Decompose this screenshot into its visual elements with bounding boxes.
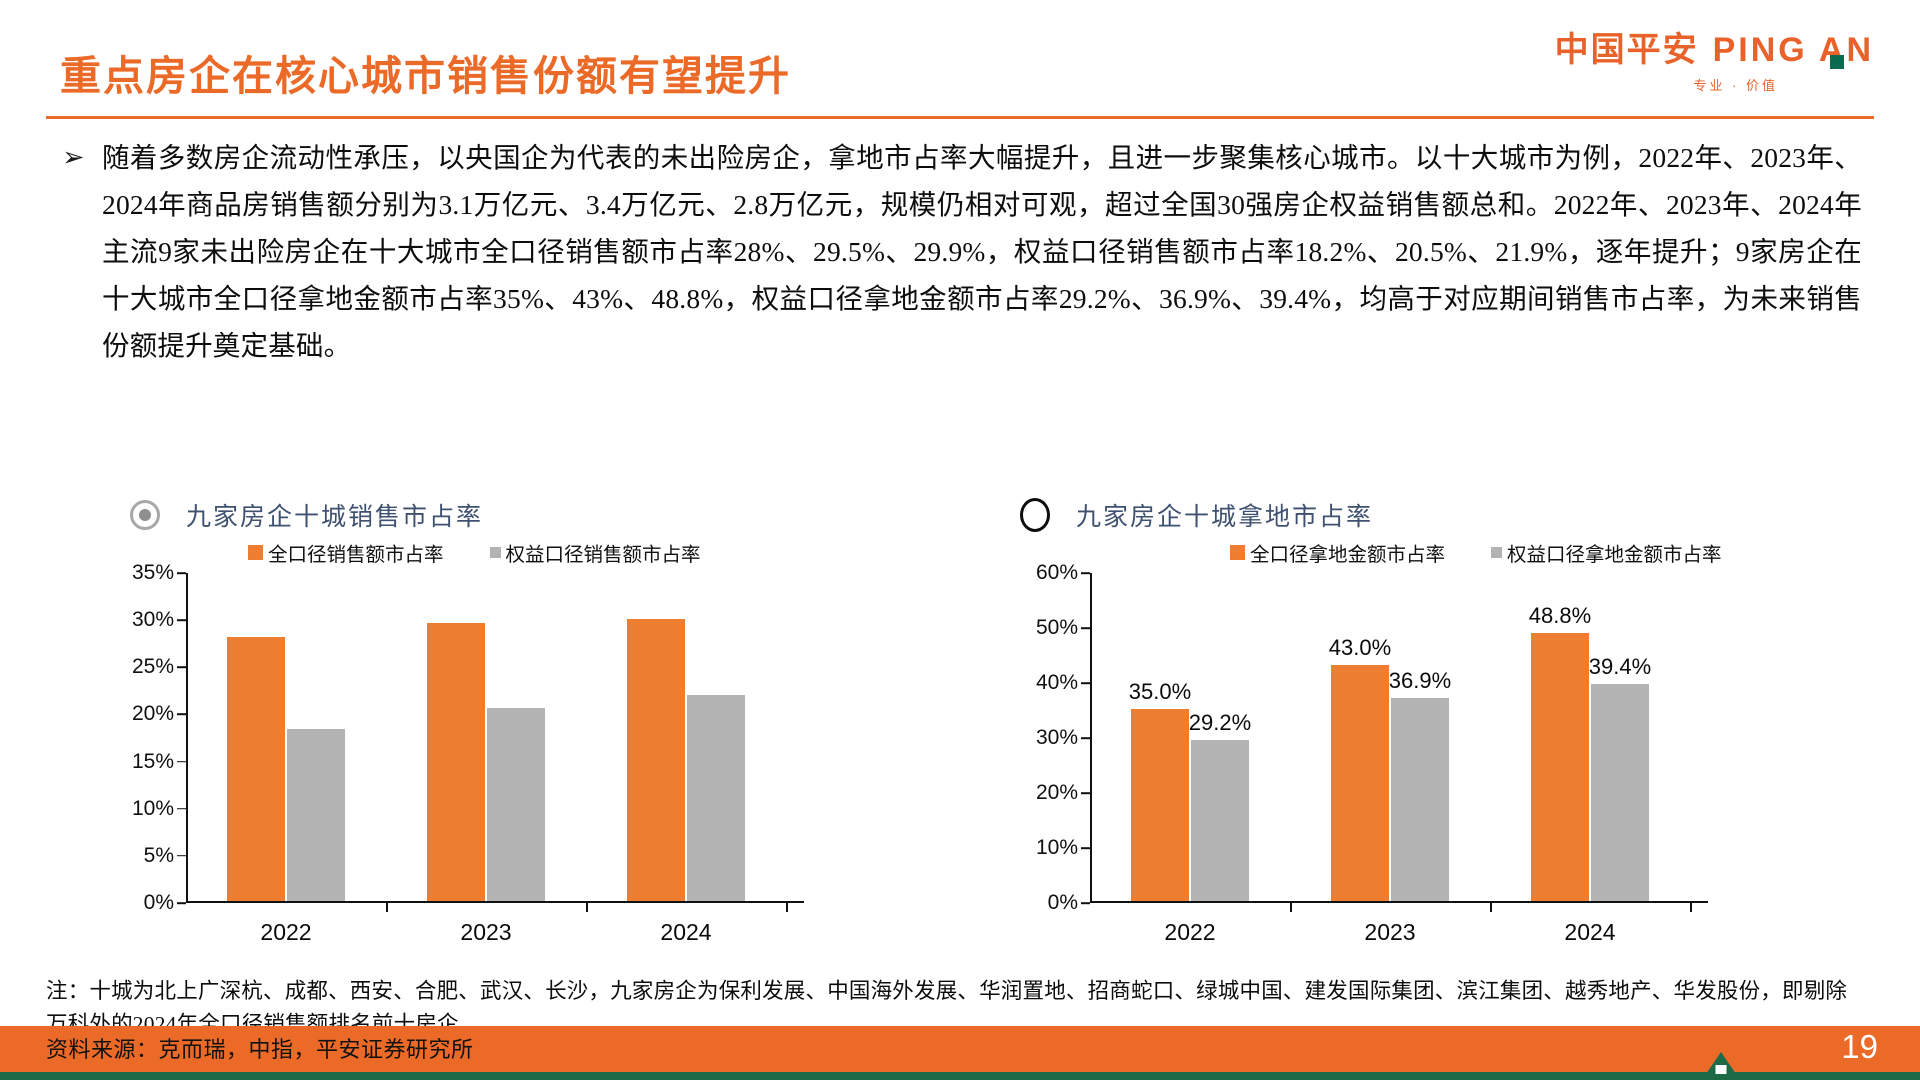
y-axis-tick-mark [177, 761, 186, 763]
chart-header-sales: 九家房企十城销售市占率 [130, 492, 890, 538]
logo-wordmark: 中国平安 PING AN [1524, 22, 1874, 71]
y-axis-tick-mark [1081, 792, 1090, 794]
x-axis-tick-label: 2022 [1164, 919, 1215, 946]
x-axis-tick-mark [586, 903, 588, 912]
bar-equity: 36.9% [1391, 698, 1449, 901]
legend-label-land-equity: 权益口径拿地金额市占率 [1507, 538, 1722, 567]
y-axis-tick-mark [177, 902, 186, 904]
chart-legend-sales: 全口径销售额市占率 权益口径销售额市占率 [248, 538, 890, 567]
y-axis-tick-mark [1081, 572, 1090, 574]
legend-item-sales-equity: 权益口径销售额市占率 [490, 538, 701, 567]
x-axis-tick-label: 2023 [460, 919, 511, 946]
bar-value-label: 43.0% [1329, 635, 1391, 661]
y-axis-tick-mark [177, 572, 186, 574]
y-axis-tick-mark [1081, 902, 1090, 904]
x-axis-tick-mark [1490, 903, 1492, 912]
y-axis-tick-mark [1081, 737, 1090, 739]
bar-value-label: 36.9% [1389, 668, 1451, 694]
bar-value-label: 35.0% [1129, 679, 1191, 705]
legend-swatch-gray-icon [490, 547, 501, 558]
y-axis-tick-mark [177, 808, 186, 810]
logo-tagline: 专业 · 价值 [1524, 75, 1874, 94]
filled-circle-icon [130, 500, 160, 530]
legend-label-sales-equity: 权益口径销售额市占率 [506, 538, 701, 567]
bar-equity [687, 695, 745, 901]
page-title: 重点房企在核心城市销售份额有望提升 [60, 42, 791, 102]
footer-green-bar [0, 1072, 1920, 1080]
bar-group [627, 619, 745, 901]
legend-label-land-total: 全口径拿地金额市占率 [1250, 538, 1445, 567]
y-axis-tick-mark [177, 666, 186, 668]
y-axis-tick-mark [177, 855, 186, 857]
chart-header-land: 九家房企十城拿地市占率 [1020, 492, 1860, 538]
bar-group: 43.0%36.9% [1331, 665, 1449, 902]
bar-total [627, 619, 685, 901]
logo-chinese-text: 中国平安 [1555, 22, 1699, 71]
legend-item-land-total: 全口径拿地金额市占率 [1230, 538, 1445, 567]
bar-total [227, 637, 285, 901]
legend-swatch-orange-icon [1230, 545, 1245, 560]
bar-total: 35.0% [1131, 709, 1189, 902]
bar-group: 35.0%29.2% [1131, 709, 1249, 902]
x-axis-tick-mark [786, 903, 788, 912]
bar-equity: 39.4% [1591, 684, 1649, 901]
title-divider [46, 116, 1874, 119]
plot-area-sales: 0%5%10%15%20%25%30%35%202220232024 [186, 573, 786, 903]
hollow-circle-icon [1020, 498, 1050, 532]
chart-legend-land: 全口径拿地金额市占率 权益口径拿地金额市占率 [1230, 538, 1860, 567]
legend-label-sales-total: 全口径销售额市占率 [268, 538, 444, 567]
bar-total [427, 623, 485, 901]
bar-container-land: 35.0%29.2%43.0%36.9%48.8%39.4% [1090, 573, 1690, 901]
legend-swatch-gray-icon [1491, 547, 1502, 558]
x-axis-tick-mark [386, 903, 388, 912]
logo-english-label: PING AN [1713, 31, 1874, 69]
bar-value-label: 29.2% [1189, 710, 1251, 736]
body-paragraph: 随着多数房企流动性承压，以央国企为代表的未出险房企，拿地市占率大幅提升，且进一步… [102, 134, 1862, 369]
bar-total: 43.0% [1331, 665, 1389, 902]
logo-green-wedge-icon [1830, 55, 1844, 69]
legend-swatch-orange-icon [248, 545, 263, 560]
chart-title-sales: 九家房企十城销售市占率 [186, 497, 483, 533]
bar-equity [287, 729, 345, 901]
x-axis-tick-label: 2022 [260, 919, 311, 946]
chart-title-land: 九家房企十城拿地市占率 [1076, 497, 1373, 533]
bar-group [227, 637, 345, 901]
y-axis-tick-mark [177, 619, 186, 621]
x-axis-tick-label: 2024 [1564, 919, 1615, 946]
bar-group [427, 623, 545, 901]
plot-area-land: 35.0%29.2%43.0%36.9%48.8%39.4% 0%10%20%3… [1090, 573, 1690, 903]
page-number: 19 [1841, 1028, 1878, 1066]
pingan-logo: 中国平安 PING AN 专业 · 价值 [1524, 22, 1874, 94]
bar-equity: 29.2% [1191, 740, 1249, 901]
bullet-arrow-icon: ➢ [62, 134, 102, 181]
x-axis-land [1090, 901, 1708, 903]
bar-value-label: 48.8% [1529, 603, 1591, 629]
legend-item-sales-total: 全口径销售额市占率 [248, 538, 444, 567]
x-axis-tick-label: 2023 [1364, 919, 1415, 946]
body-bullet-block: ➢ 随着多数房企流动性承压，以央国企为代表的未出险房企，拿地市占率大幅提升，且进… [62, 134, 1862, 369]
bar-group: 48.8%39.4% [1531, 633, 1649, 901]
bar-total: 48.8% [1531, 633, 1589, 901]
x-axis-tick-label: 2024 [660, 919, 711, 946]
x-axis-tick-mark [1290, 903, 1292, 912]
logo-english-text: PING AN [1713, 31, 1874, 70]
x-axis-tick-mark [1690, 903, 1692, 912]
chart-panel-sales-share: 九家房企十城销售市占率 全口径销售额市占率 权益口径销售额市占率 0%5%10%… [130, 492, 890, 903]
y-axis-tick-mark [177, 714, 186, 716]
bar-value-label: 39.4% [1589, 654, 1651, 680]
legend-item-land-equity: 权益口径拿地金额市占率 [1491, 538, 1722, 567]
chart-panel-land-share: 九家房企十城拿地市占率 全口径拿地金额市占率 权益口径拿地金额市占率 35.0%… [1020, 492, 1860, 903]
x-axis-sales [186, 901, 804, 903]
bar-equity [487, 708, 545, 901]
y-axis-tick-mark [1081, 682, 1090, 684]
bar-container-sales [186, 573, 786, 901]
y-axis-tick-mark [1081, 627, 1090, 629]
source-citation: 资料来源：克而瑞，中指，平安证券研究所 [46, 1032, 474, 1064]
y-axis-tick-mark [1081, 847, 1090, 849]
